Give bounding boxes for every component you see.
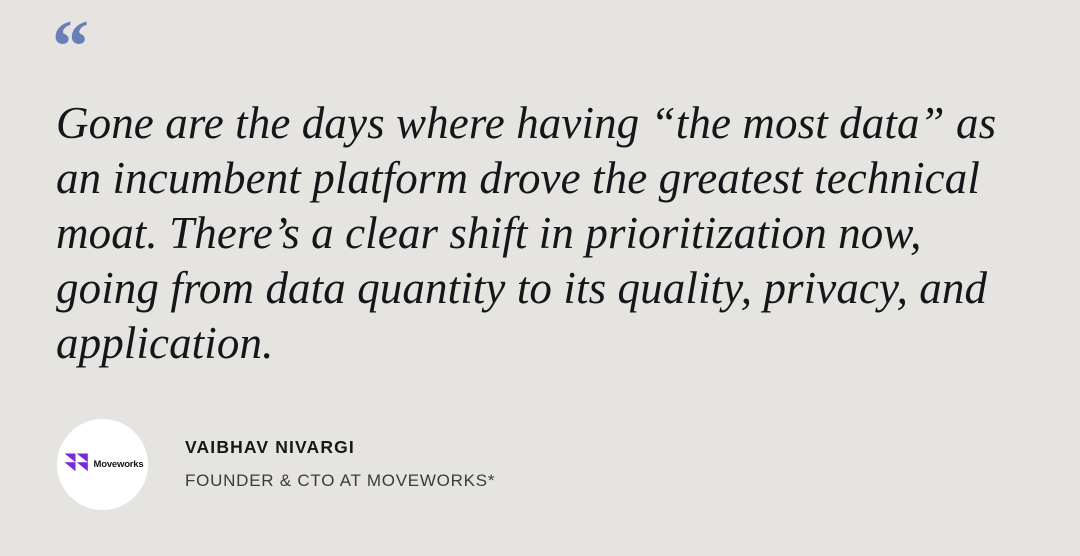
person-role: FOUNDER & CTO AT MOVEWORKS*	[185, 471, 495, 491]
attribution: Moveworks VAIBHAV NIVARGI FOUNDER & CTO …	[57, 419, 495, 510]
moveworks-logo: Moveworks	[64, 453, 144, 477]
moveworks-chevron-icon	[64, 453, 90, 477]
testimonial-quote-card: “ Gone are the days where having “the mo…	[0, 0, 1080, 556]
quote-text: Gone are the days where having “the most…	[56, 96, 1031, 371]
moveworks-wordmark: Moveworks	[94, 459, 144, 470]
open-quote-icon: “	[52, 10, 87, 84]
attribution-text: VAIBHAV NIVARGI FOUNDER & CTO AT MOVEWOR…	[185, 437, 495, 491]
person-name: VAIBHAV NIVARGI	[185, 437, 495, 458]
avatar: Moveworks	[57, 419, 148, 510]
